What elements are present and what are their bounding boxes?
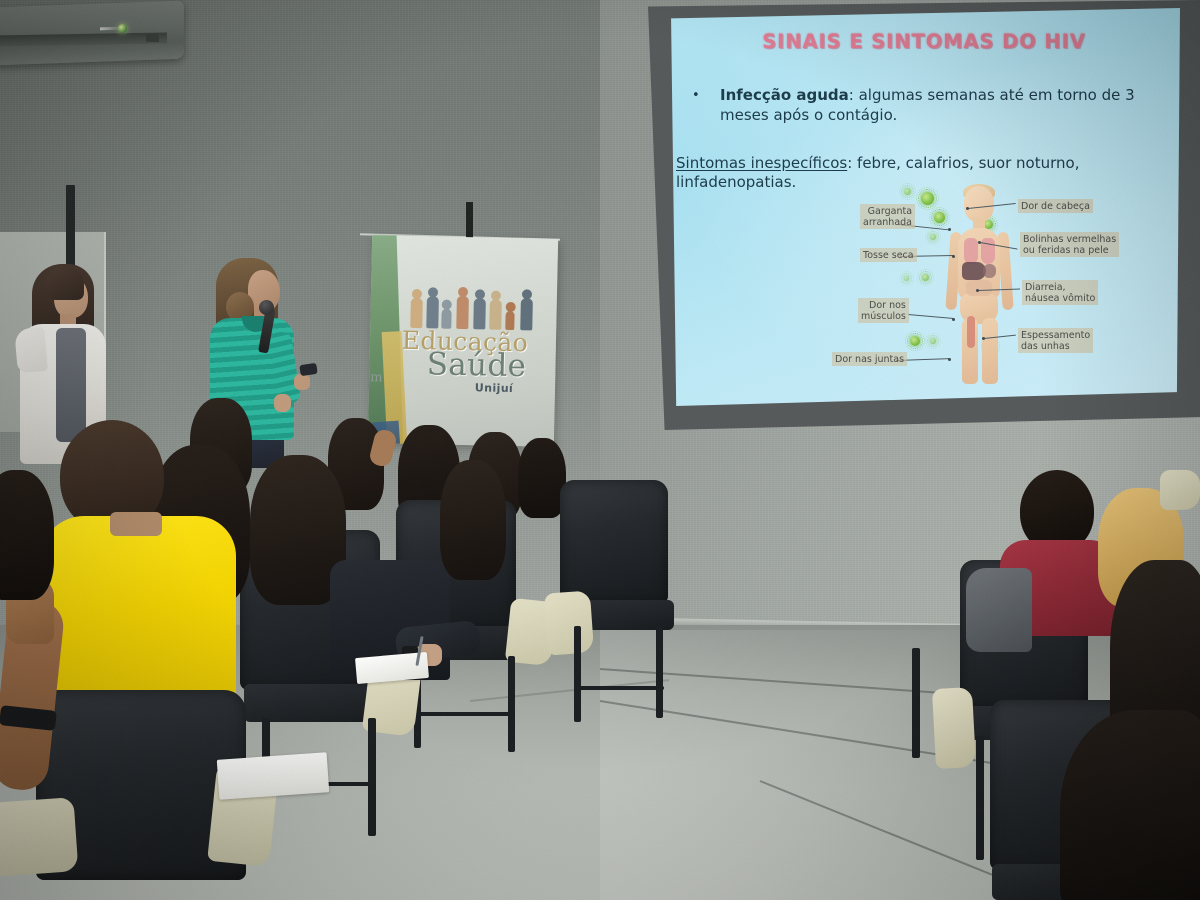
chair-tablet-arm: [544, 590, 594, 655]
human-body-symptom-diagram: Dor de cabeça Bolinhas vermelhas ou feri…: [838, 186, 1178, 396]
subsection-label: Sintomas inespecíficos: [676, 154, 847, 172]
human-figure-illustration: [942, 186, 1018, 384]
presenter-shoulder: [14, 327, 48, 373]
symptom-label-diarrhea: Diarreia, náusea vômito: [1022, 280, 1098, 305]
presentation-scene: SINAIS E SINTOMAS DO HIV • Infecção agud…: [0, 0, 1200, 900]
banner-figure: [426, 296, 439, 328]
leader-endpoint: [966, 207, 969, 210]
chair-leg: [508, 656, 515, 752]
organ-muscle-icon: [967, 316, 975, 348]
presenter-hand-holding-clicker: [294, 374, 310, 390]
presenter-hand-holding-mic: [274, 394, 291, 412]
chair-tablet-arm: [1160, 470, 1200, 510]
chair-tablet-arm: [932, 687, 976, 769]
symptom-label-joint-pain: Dor nas juntas: [832, 352, 907, 366]
bullet-marker-icon: •: [692, 88, 700, 105]
banner-figure: [520, 298, 533, 330]
virus-particle-icon: [910, 336, 920, 346]
presentation-clicker[interactable]: [299, 363, 317, 376]
banner-figure: [410, 298, 423, 328]
chair-tablet-arm: [0, 797, 78, 877]
leader-endpoint: [952, 318, 955, 321]
ac-display-icon: [146, 34, 159, 42]
symptom-label-skin-spots: Bolinhas vermelhas ou feridas na pele: [1020, 232, 1119, 257]
presenter-inner-garment: [56, 328, 86, 442]
banner-people-illustration: [410, 288, 537, 331]
leader-endpoint: [952, 255, 955, 258]
bullet-lead-text: Infecção aguda: [720, 86, 849, 104]
attendee-hair: [1060, 710, 1200, 900]
leader-endpoint: [976, 289, 979, 292]
virus-particle-icon: [904, 188, 911, 195]
symptom-label-sore-throat: Garganta arranhada: [860, 204, 915, 229]
symptom-label-dry-cough: Tosse seca: [860, 248, 917, 262]
chair-rail: [574, 686, 664, 690]
notebook: [217, 752, 330, 800]
banner-logo-unijui: Unijuí: [411, 380, 558, 396]
attendee-hair: [0, 470, 54, 600]
educacao-em-saude-banner: Educação emSaúde Unijuí: [368, 235, 558, 447]
leader-endpoint: [982, 337, 985, 340]
figure-leg-right: [982, 318, 998, 384]
virus-particle-icon: [922, 274, 929, 281]
attendee-hair: [518, 438, 566, 518]
attendee-hair: [440, 460, 506, 580]
virus-particle-icon: [930, 338, 936, 344]
organ-lung-left-icon: [964, 238, 978, 264]
banner-logo-em: em: [368, 370, 383, 385]
organ-intestine-icon: [966, 280, 992, 296]
attendee-shoulder: [966, 568, 1032, 652]
chair-leg: [656, 626, 663, 718]
attendee-neck: [110, 512, 162, 536]
banner-figure: [489, 300, 502, 330]
banner-figure: [456, 296, 469, 329]
chair-backrest: [560, 480, 668, 604]
figure-head: [964, 186, 994, 222]
leader-endpoint: [978, 241, 981, 244]
virus-particle-icon: [904, 276, 909, 281]
presenter-hair-front: [44, 266, 84, 300]
virus-particle-icon: [921, 192, 934, 205]
banner-logo: Educação emSaúde Unijuí: [380, 327, 548, 430]
symptom-label-headache: Dor de cabeça: [1018, 199, 1093, 213]
chair-leg: [368, 718, 376, 836]
virus-particle-icon: [930, 234, 936, 240]
ac-led-indicator-icon: [118, 24, 127, 33]
projected-slide: SINAIS E SINTOMAS DO HIV • Infecção agud…: [668, 8, 1180, 406]
chair-leg: [912, 648, 920, 758]
banner-figure: [473, 298, 486, 329]
slide-bullet-item: • Infecção aguda: algumas semanas até em…: [692, 86, 1162, 125]
chair-rail: [414, 712, 514, 716]
leader-endpoint: [948, 358, 951, 361]
leader-endpoint: [948, 228, 951, 231]
chair-leg: [574, 626, 581, 722]
organ-stomach-icon: [983, 264, 996, 278]
symptom-label-nail-thickening: Espessamento das unhas: [1018, 328, 1093, 353]
banner-logo-line2: Saúde: [426, 349, 526, 382]
symptom-label-muscle-pain: Dor nos músculos: [858, 298, 909, 323]
banner-hook: [466, 202, 473, 238]
slide-title: SINAIS E SINTOMAS DO HIV: [668, 30, 1180, 53]
chair-leg: [976, 736, 984, 860]
